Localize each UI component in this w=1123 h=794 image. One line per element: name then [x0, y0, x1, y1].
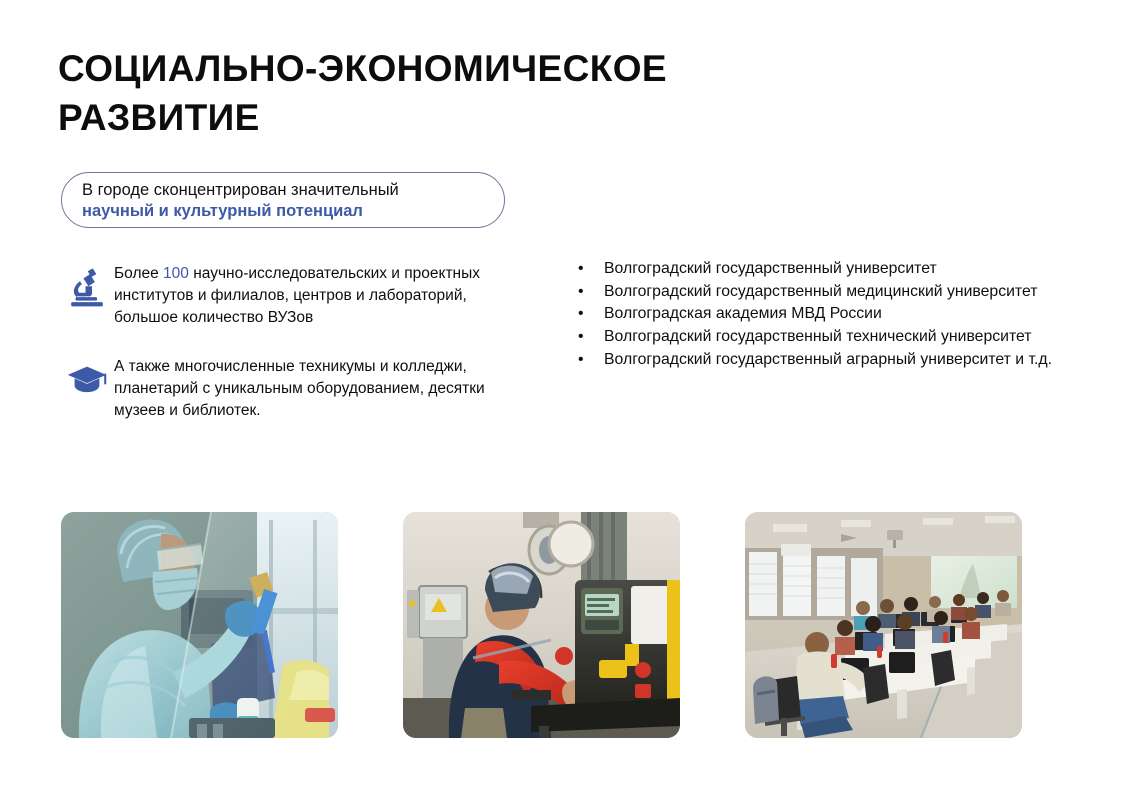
- list-item-label: Волгоградская академия МВД России: [604, 305, 882, 322]
- list-item-label: Волгоградский государственный медицински…: [604, 283, 1038, 300]
- slide-canvas: СОЦИАЛЬНО-ЭКОНОМИЧЕСКОЕ РАЗВИТИЕ В город…: [0, 0, 1123, 794]
- list-item: • Волгоградская академия МВД России: [572, 303, 1102, 326]
- feature-research-text: Более 100 научно-исследовательских и про…: [114, 262, 530, 329]
- bullet-icon: •: [578, 258, 584, 281]
- callout-line-2: научный и культурный потенциал: [82, 201, 486, 222]
- feature-colleges-text: А также многочисленные техникумы и колле…: [114, 355, 530, 422]
- graduation-cap-icon: [60, 355, 114, 411]
- university-list: • Волгоградский государственный универси…: [572, 258, 1102, 372]
- list-item: • Волгоградский государственный универси…: [572, 258, 1102, 281]
- list-item: • Волгоградский государственный аграрный…: [572, 349, 1102, 372]
- bullet-icon: •: [578, 281, 584, 304]
- microscope-icon: [60, 262, 114, 318]
- feature-colleges: А также многочисленные техникумы и колле…: [60, 355, 530, 422]
- list-item-label: Волгоградский государственный университе…: [604, 260, 937, 277]
- list-item: • Волгоградский государственный техничес…: [572, 326, 1102, 349]
- feature-count-highlight: 100: [163, 265, 189, 282]
- page-title: СОЦИАЛЬНО-ЭКОНОМИЧЕСКОЕ РАЗВИТИЕ: [58, 45, 958, 143]
- bullet-icon: •: [578, 303, 584, 326]
- list-item: • Волгоградский государственный медицинс…: [572, 281, 1102, 304]
- callout-line-1: В городе сконцентрирован значительный: [82, 180, 486, 201]
- bullet-icon: •: [578, 349, 584, 372]
- callout-box: В городе сконцентрирован значительный на…: [61, 172, 505, 228]
- list-item-label: Волгоградский государственный технически…: [604, 328, 1032, 345]
- photo-classroom: [745, 512, 1022, 738]
- bullet-icon: •: [578, 326, 584, 349]
- photo-workshop: [403, 512, 680, 738]
- photo-lab: [61, 512, 338, 738]
- feature-research-institutes: Более 100 научно-исследовательских и про…: [60, 262, 530, 329]
- feature-text-before: Более: [114, 265, 163, 282]
- list-item-label: Волгоградский государственный аграрный у…: [604, 351, 1052, 368]
